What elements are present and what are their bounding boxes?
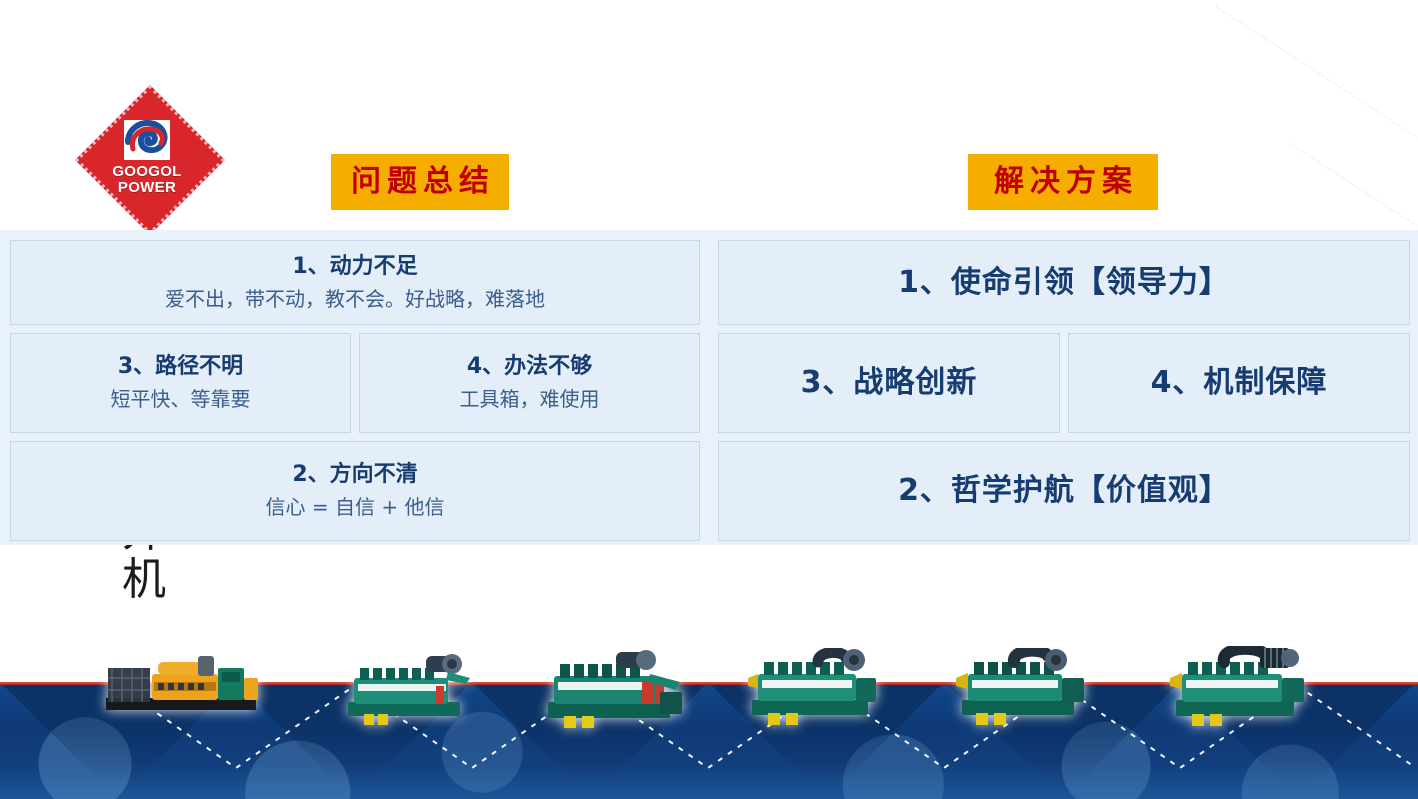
generator-engine-teal-3-icon (742, 648, 884, 728)
problem-subtitle: 工具箱，难使用 (460, 385, 600, 413)
problem-title: 2、方向不清 (292, 461, 417, 489)
logo-wordmark: GOOGOL POWER (76, 164, 218, 195)
solution-cell-4[interactable]: 4、机制保障 (1068, 333, 1410, 433)
problems-column: 1、动力不足 爱不出，带不动，教不会。好战略，难落地 3、路径不明 短平快、等靠… (0, 230, 710, 545)
solutions-row-1: 1、使命引领【领导力】 (718, 240, 1410, 325)
problem-cell-1[interactable]: 1、动力不足 爱不出，带不动，教不会。好战略，难落地 (10, 240, 700, 325)
problem-title: 3、路径不明 (118, 353, 243, 381)
problem-cell-2[interactable]: 2、方向不清 信心 = 自信 + 他信 (10, 441, 700, 541)
decorative-diagonal-line-1 (1215, 6, 1418, 148)
solutions-column: 1、使命引领【领导力】 3、战略创新 4、机制保障 2、哲学护航【价值观】 (710, 230, 1418, 545)
problem-title: 4、办法不够 (467, 353, 592, 381)
solutions-row-2: 3、战略创新 4、机制保障 (718, 333, 1410, 433)
problem-cell-4[interactable]: 4、办法不够 工具箱，难使用 (359, 333, 700, 433)
logo-line-1: GOOGOL (112, 163, 181, 180)
solution-title: 2、哲学护航【价值观】 (898, 472, 1230, 510)
background-text-line-2: 机 (122, 556, 166, 604)
logo-line-2: POWER (76, 180, 218, 195)
solution-title: 4、机制保障 (1151, 364, 1328, 402)
solution-cell-3[interactable]: 3、战略创新 (718, 333, 1060, 433)
solution-cell-2[interactable]: 2、哲学护航【价值观】 (718, 441, 1410, 541)
generator-engine-teal-2-icon (538, 648, 688, 730)
solution-title: 1、使命引领【领导力】 (898, 264, 1230, 302)
solution-title: 3、战略创新 (801, 364, 978, 402)
problem-subtitle: 爱不出，带不动，教不会。好战略，难落地 (165, 285, 545, 313)
problem-cell-3[interactable]: 3、路径不明 短平快、等靠要 (10, 333, 351, 433)
banner-solution: 解决方案 (968, 154, 1158, 210)
problem-title: 1、动力不足 (292, 253, 417, 281)
generator-set-orange-icon (102, 652, 268, 728)
banner-problem-summary: 问题总结 (331, 154, 509, 210)
problems-row-2: 3、路径不明 短平快、等靠要 4、办法不够 工具箱，难使用 (10, 333, 700, 433)
problem-subtitle: 信心 = 自信 + 他信 (266, 493, 445, 521)
problems-row-1: 1、动力不足 爱不出，带不动，教不会。好战略，难落地 (10, 240, 700, 325)
solutions-row-3: 2、哲学护航【价值观】 (718, 441, 1410, 541)
googol-power-logo: GOOGOL POWER (76, 86, 218, 228)
logo-swirl-icon (120, 116, 176, 164)
engine-photo-row (0, 630, 1418, 750)
generator-engine-teal-4-icon (952, 648, 1092, 728)
problem-subtitle: 短平快、等靠要 (111, 385, 251, 413)
comparison-panel: 1、动力不足 爱不出，带不动，教不会。好战略，难落地 3、路径不明 短平快、等靠… (0, 230, 1418, 545)
generator-engine-teal-5-icon (1166, 646, 1314, 730)
presentation-slide: GOOGOL POWER 问题总结 解决方案 外 机 1、动力不足 爱不出，带不… (0, 0, 1418, 799)
problems-row-3: 2、方向不清 信心 = 自信 + 他信 (10, 441, 700, 541)
generator-engine-teal-1-icon (340, 650, 476, 728)
solution-cell-1[interactable]: 1、使命引领【领导力】 (718, 240, 1410, 325)
